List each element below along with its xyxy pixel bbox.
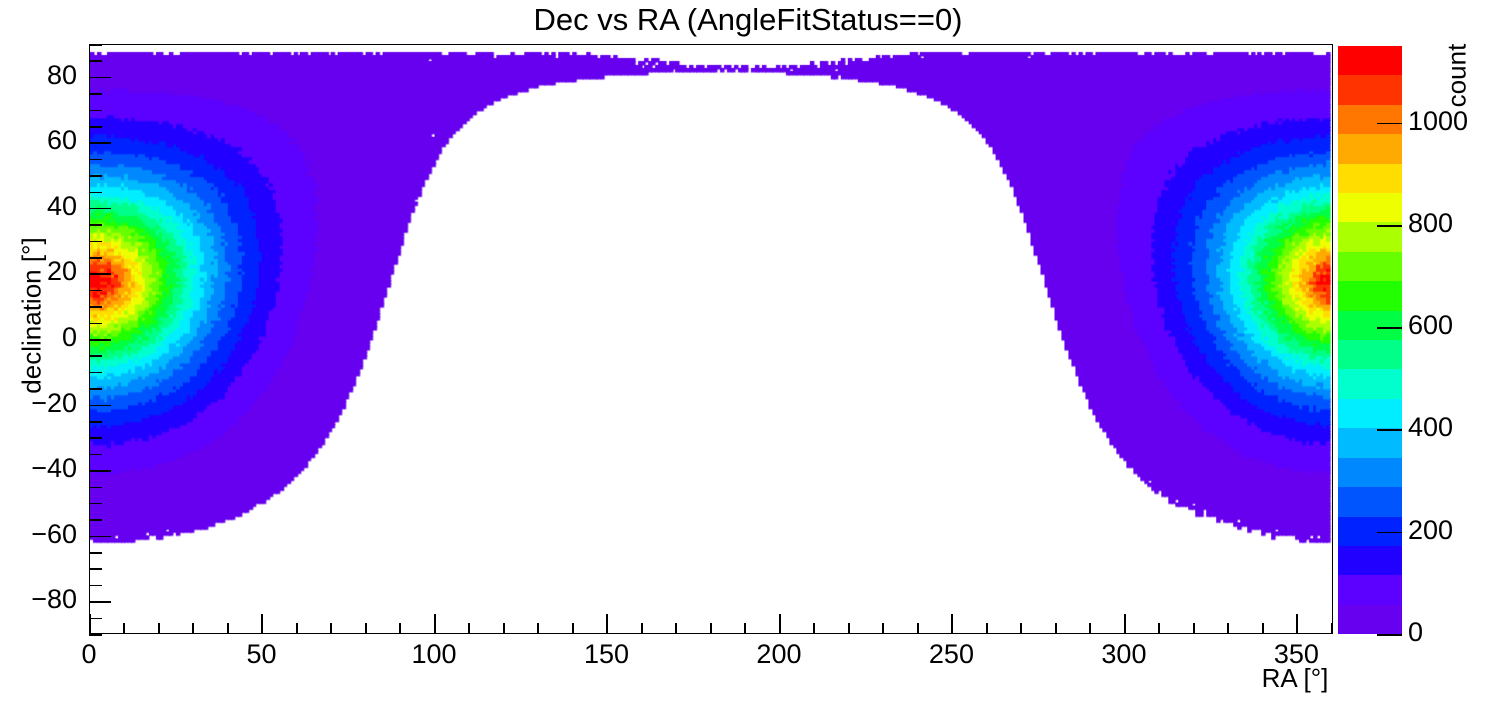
color-bar-tick-labels: 02004006008001000 [0,0,1496,722]
color-bar-tick-label: 800 [1408,208,1453,239]
color-bar-tick-label: 0 [1408,617,1423,648]
color-bar-tick-label: 200 [1408,515,1453,546]
plot-canvas: Dec vs RA (AngleFitStatus==0) 806040200−… [0,0,1496,722]
color-bar-title: count [1442,11,1473,141]
color-bar-tick-label: 400 [1408,412,1453,443]
color-bar-tick-label: 600 [1408,310,1453,341]
